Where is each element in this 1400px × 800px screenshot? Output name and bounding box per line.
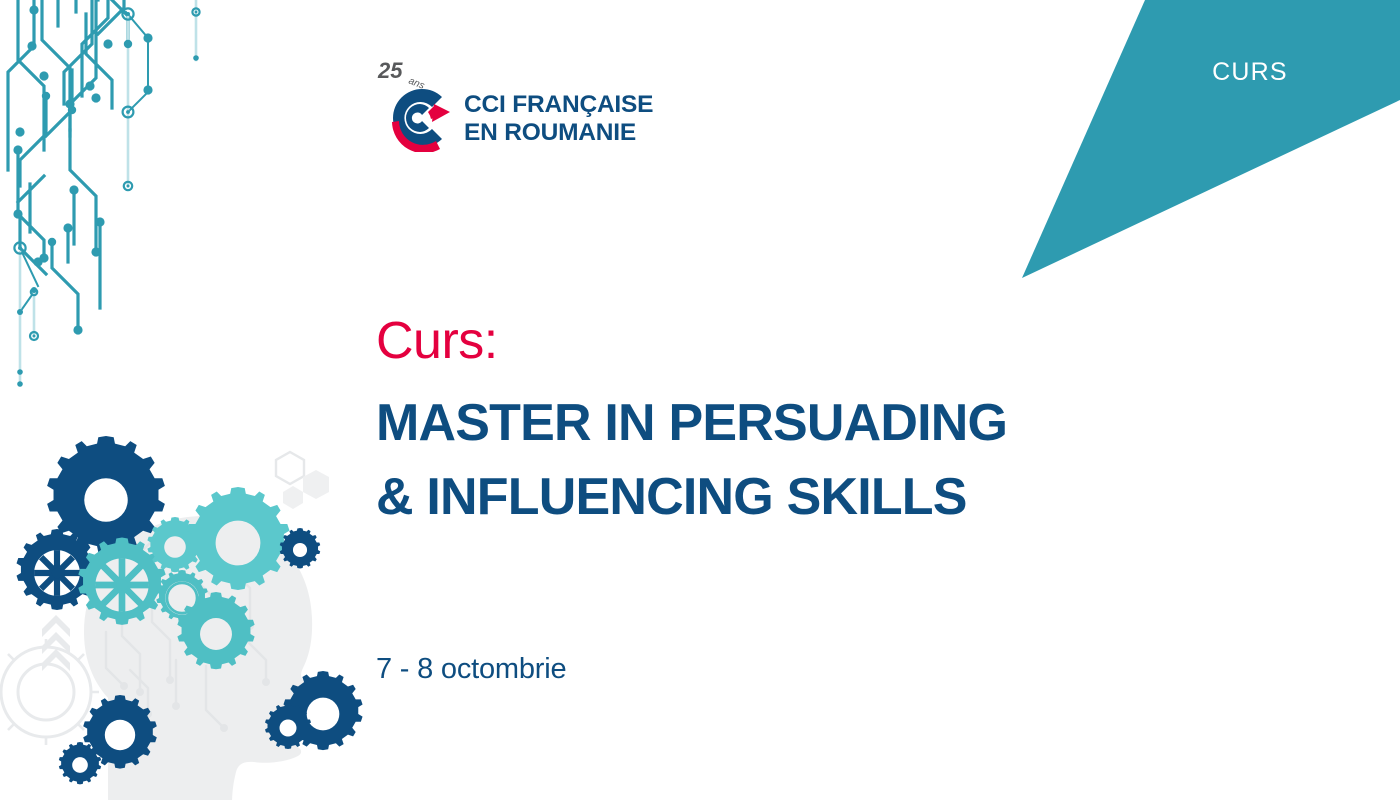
cci-logo-mark: 25 ans <box>376 56 462 152</box>
headline-eyebrow: Curs: <box>376 315 1136 367</box>
gear-navy-bottom <box>83 695 157 769</box>
headline-title-line2: & INFLUENCING SKILLS <box>376 461 1136 535</box>
corner-banner-shape <box>1000 0 1400 290</box>
cci-logo-text: CCI FRANÇAISE EN ROUMANIE <box>462 91 653 152</box>
gear-navy-bottom-small <box>59 742 101 784</box>
logo-anniversary-number: 25 <box>377 58 403 83</box>
event-date: 7 - 8 octombrie <box>376 653 566 686</box>
gear-navy-right-small <box>265 703 311 749</box>
gear-teal-spoked <box>78 538 165 625</box>
banner-canvas: CURS 25 ans CCI FRANÇAISE EN ROUMANIE <box>0 0 1400 800</box>
headline-title-line1: MASTER IN PERSUADING <box>376 387 1136 461</box>
gear-navy-spoked <box>17 529 98 610</box>
cci-logo: 25 ans CCI FRANÇAISE EN ROUMANIE <box>376 56 626 152</box>
logo-name-line1: CCI FRANÇAISE <box>464 91 653 118</box>
gear-navy-right-large <box>283 671 362 750</box>
gear-teal-ring <box>156 570 208 622</box>
headline-block: Curs: MASTER IN PERSUADING & INFLUENCING… <box>376 315 1136 535</box>
head-silhouette <box>84 516 312 800</box>
circuit-decoration <box>0 0 240 400</box>
logo-name-line2: EN ROUMANIE <box>464 119 653 146</box>
gear-teal-large <box>186 487 289 590</box>
gear-teal-small <box>147 517 202 572</box>
head-gears-illustration <box>0 430 380 800</box>
gear-teal-mid <box>177 592 254 669</box>
gear-navy-large <box>47 436 165 554</box>
gear-navy-tiny-right <box>280 528 320 568</box>
corner-banner-label: CURS <box>1185 58 1315 87</box>
